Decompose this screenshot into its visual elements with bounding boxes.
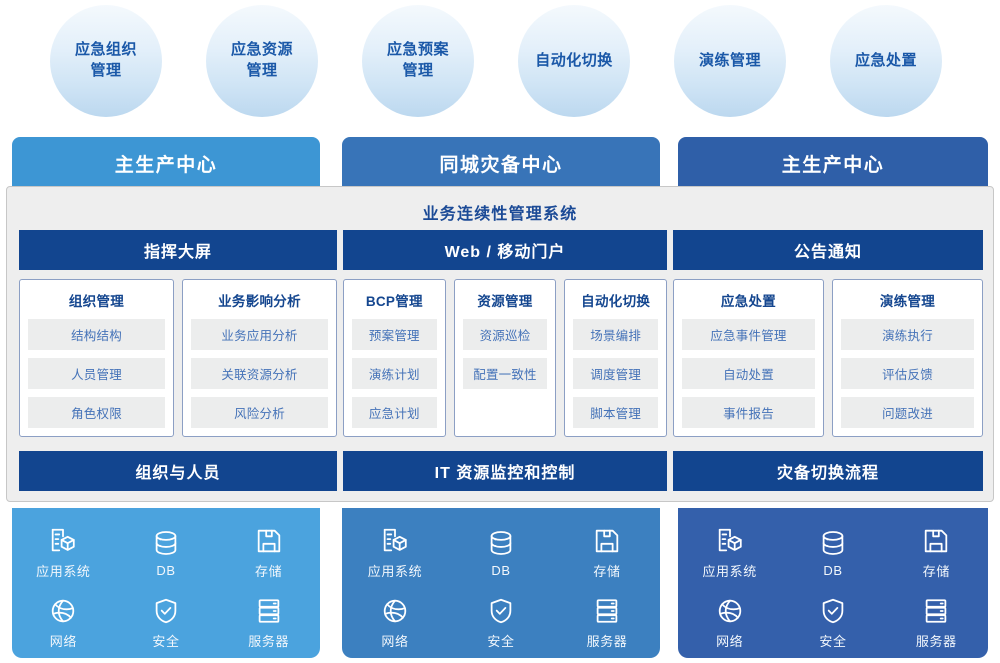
capability-bubble-label: 应急预案管理 — [379, 40, 457, 81]
infrastructure-item-label: DB — [156, 563, 175, 578]
system-group-2: Web / 移动门户BCP管理预案管理演练计划应急计划资源管理资源巡检配置一致性… — [343, 187, 667, 503]
infrastructure-item[interactable]: 网络 — [12, 596, 115, 650]
application-system-icon — [715, 526, 745, 556]
system-group-1: 指挥大屏组织管理结构结构人员管理角色权限业务影响分析业务应用分析关联资源分析风险… — [19, 187, 337, 503]
group-bottom-band-label: 灾备切换流程 — [777, 459, 879, 483]
module-card[interactable]: 业务影响分析业务应用分析关联资源分析风险分析 — [182, 279, 337, 437]
module-card-title: BCP管理 — [352, 290, 437, 310]
infrastructure-item[interactable]: DB — [115, 528, 218, 578]
center-bar-1: 主生产中心 — [12, 137, 320, 189]
network-icon — [380, 596, 410, 626]
infrastructure-item-label: 安全 — [152, 631, 179, 650]
group-bottom-band: 灾备切换流程 — [673, 451, 983, 491]
group-top-band-label: 公告通知 — [794, 238, 862, 262]
module-card-item[interactable]: 演练执行 — [841, 319, 974, 350]
module-card-title: 业务影响分析 — [191, 290, 328, 310]
module-card[interactable]: 自动化切换场景编排调度管理脚本管理 — [564, 279, 667, 437]
module-card-item[interactable]: 预案管理 — [352, 319, 437, 350]
infrastructure-grid: 应用系统 DB 存储 网络 安全 服务器 — [12, 518, 320, 658]
network-icon — [48, 596, 78, 626]
capability-bubble-label: 应急处置 — [847, 51, 925, 72]
security-shield-icon — [151, 596, 181, 626]
capability-bubble-5[interactable]: 演练管理 — [674, 5, 786, 117]
storage-icon — [921, 526, 951, 556]
infrastructure-item-label: 存储 — [255, 561, 282, 580]
center-bar-label: 同城灾备中心 — [439, 150, 562, 177]
module-card-item[interactable]: 自动处置 — [682, 358, 815, 389]
module-card-item[interactable]: 应急计划 — [352, 397, 437, 428]
infrastructure-grid: 应用系统 DB 存储 网络 安全 服务器 — [342, 518, 660, 658]
security-shield-icon — [486, 596, 516, 626]
module-card-item[interactable]: 脚本管理 — [573, 397, 658, 428]
module-card[interactable]: 演练管理演练执行评估反馈问题改进 — [832, 279, 983, 437]
infrastructure-item[interactable]: 服务器 — [885, 596, 988, 650]
infrastructure-panel-3: 应用系统 DB 存储 网络 安全 服务器 — [678, 508, 988, 658]
database-icon — [818, 528, 848, 558]
group-card-row: 应急处置应急事件管理自动处置事件报告演练管理演练执行评估反馈问题改进 — [673, 279, 983, 437]
module-card-title: 演练管理 — [841, 290, 974, 310]
infrastructure-item-label: 应用系统 — [368, 561, 422, 580]
module-card-item[interactable]: 场景编排 — [573, 319, 658, 350]
infrastructure-item[interactable]: 安全 — [115, 596, 218, 650]
infrastructure-item-label: 服务器 — [248, 631, 289, 650]
infrastructure-panel-1: 应用系统 DB 存储 网络 安全 服务器 — [12, 508, 320, 658]
infrastructure-item[interactable]: DB — [448, 528, 554, 578]
infrastructure-item-label: 存储 — [593, 561, 620, 580]
infrastructure-item-label: 存储 — [923, 561, 950, 580]
infrastructure-item[interactable]: 服务器 — [554, 596, 660, 650]
infrastructure-item[interactable]: 安全 — [781, 596, 884, 650]
capability-bubble-6[interactable]: 应急处置 — [830, 5, 942, 117]
module-card-title: 资源管理 — [463, 290, 548, 310]
database-icon — [486, 528, 516, 558]
capability-bubble-4[interactable]: 自动化切换 — [518, 5, 630, 117]
center-bar-3: 主生产中心 — [678, 137, 988, 189]
infrastructure-item-label: 应用系统 — [702, 561, 756, 580]
module-card-item[interactable]: 角色权限 — [28, 397, 165, 428]
module-card-item[interactable]: 关联资源分析 — [191, 358, 328, 389]
infrastructure-item[interactable]: 应用系统 — [12, 526, 115, 580]
center-bar-label: 主生产中心 — [115, 150, 218, 177]
group-top-band: Web / 移动门户 — [343, 230, 667, 270]
infrastructure-panel-2: 应用系统 DB 存储 网络 安全 服务器 — [342, 508, 660, 658]
group-bottom-band-label: 组织与人员 — [135, 459, 220, 483]
infrastructure-item-label: DB — [491, 563, 510, 578]
infrastructure-item[interactable]: 应用系统 — [678, 526, 781, 580]
module-card-item[interactable]: 业务应用分析 — [191, 319, 328, 350]
module-card-title: 组织管理 — [28, 290, 165, 310]
infrastructure-item[interactable]: DB — [781, 528, 884, 578]
module-card-item[interactable]: 演练计划 — [352, 358, 437, 389]
infrastructure-grid: 应用系统 DB 存储 网络 安全 服务器 — [678, 518, 988, 658]
infrastructure-item-label: 应用系统 — [36, 561, 90, 580]
module-card-item[interactable]: 风险分析 — [191, 397, 328, 428]
infrastructure-item-label: 网络 — [50, 631, 77, 650]
module-card-title: 应急处置 — [682, 290, 815, 310]
infrastructure-item[interactable]: 存储 — [554, 526, 660, 580]
infrastructure-item-label: 网络 — [716, 631, 743, 650]
server-rack-icon — [592, 596, 622, 626]
database-icon — [151, 528, 181, 558]
module-card-item[interactable]: 配置一致性 — [463, 358, 548, 389]
module-card-item[interactable]: 事件报告 — [682, 397, 815, 428]
infrastructure-item-label: 安全 — [819, 631, 846, 650]
group-top-band-label: 指挥大屏 — [144, 238, 212, 262]
infrastructure-item-label: 网络 — [381, 631, 408, 650]
infrastructure-item-label: 服务器 — [916, 631, 957, 650]
application-system-icon — [380, 526, 410, 556]
module-card-title: 自动化切换 — [573, 290, 658, 310]
capability-bubble-2[interactable]: 应急资源管理 — [206, 5, 318, 117]
capability-bubble-label: 自动化切换 — [527, 51, 621, 72]
module-card-item[interactable]: 资源巡检 — [463, 319, 548, 350]
group-card-row: 组织管理结构结构人员管理角色权限业务影响分析业务应用分析关联资源分析风险分析 — [19, 279, 337, 437]
infrastructure-item-label: 安全 — [487, 631, 514, 650]
group-bottom-band: 组织与人员 — [19, 451, 337, 491]
capability-bubble-label: 应急组织管理 — [67, 40, 145, 81]
capability-bubble-3[interactable]: 应急预案管理 — [362, 5, 474, 117]
module-card-item[interactable]: 评估反馈 — [841, 358, 974, 389]
infrastructure-item[interactable]: 存储 — [885, 526, 988, 580]
center-bar-2: 同城灾备中心 — [342, 137, 660, 189]
server-rack-icon — [921, 596, 951, 626]
security-shield-icon — [818, 596, 848, 626]
infrastructure-item[interactable]: 网络 — [678, 596, 781, 650]
module-card[interactable]: 资源管理资源巡检配置一致性 — [454, 279, 557, 437]
network-icon — [715, 596, 745, 626]
group-bottom-band: IT 资源监控和控制 — [343, 451, 667, 491]
module-card[interactable]: 组织管理结构结构人员管理角色权限 — [19, 279, 174, 437]
infrastructure-item[interactable]: 存储 — [217, 526, 320, 580]
center-bar-label: 主生产中心 — [782, 150, 885, 177]
application-system-icon — [48, 526, 78, 556]
module-card-item[interactable]: 问题改进 — [841, 397, 974, 428]
group-top-band: 公告通知 — [673, 230, 983, 270]
group-card-row: BCP管理预案管理演练计划应急计划资源管理资源巡检配置一致性自动化切换场景编排调… — [343, 279, 667, 437]
infrastructure-item[interactable]: 应用系统 — [342, 526, 448, 580]
storage-icon — [254, 526, 284, 556]
infrastructure-item[interactable]: 服务器 — [217, 596, 320, 650]
module-card-item[interactable]: 应急事件管理 — [682, 319, 815, 350]
capability-bubble-label: 演练管理 — [691, 51, 769, 72]
infrastructure-item-label: DB — [823, 563, 842, 578]
capability-bubble-row: 应急组织管理应急资源管理应急预案管理自动化切换演练管理应急处置 — [0, 0, 1000, 125]
infrastructure-item-label: 服务器 — [587, 631, 628, 650]
server-rack-icon — [254, 596, 284, 626]
infrastructure-item[interactable]: 网络 — [342, 596, 448, 650]
infrastructure-item[interactable]: 安全 — [448, 596, 554, 650]
architecture-diagram: 应急组织管理应急资源管理应急预案管理自动化切换演练管理应急处置 主生产中心同城灾… — [0, 0, 1000, 663]
group-bottom-band-label: IT 资源监控和控制 — [435, 459, 576, 483]
capability-bubble-1[interactable]: 应急组织管理 — [50, 5, 162, 117]
module-card[interactable]: 应急处置应急事件管理自动处置事件报告 — [673, 279, 824, 437]
group-top-band-label: Web / 移动门户 — [445, 238, 566, 262]
capability-bubble-label: 应急资源管理 — [223, 40, 301, 81]
business-continuity-system-panel: 业务连续性管理系统 指挥大屏组织管理结构结构人员管理角色权限业务影响分析业务应用… — [6, 186, 994, 502]
system-group-3: 公告通知应急处置应急事件管理自动处置事件报告演练管理演练执行评估反馈问题改进灾备… — [673, 187, 983, 503]
storage-icon — [592, 526, 622, 556]
module-card[interactable]: BCP管理预案管理演练计划应急计划 — [343, 279, 446, 437]
module-card-item[interactable]: 调度管理 — [573, 358, 658, 389]
module-card-item[interactable]: 结构结构 — [28, 319, 165, 350]
module-card-item[interactable]: 人员管理 — [28, 358, 165, 389]
group-top-band: 指挥大屏 — [19, 230, 337, 270]
